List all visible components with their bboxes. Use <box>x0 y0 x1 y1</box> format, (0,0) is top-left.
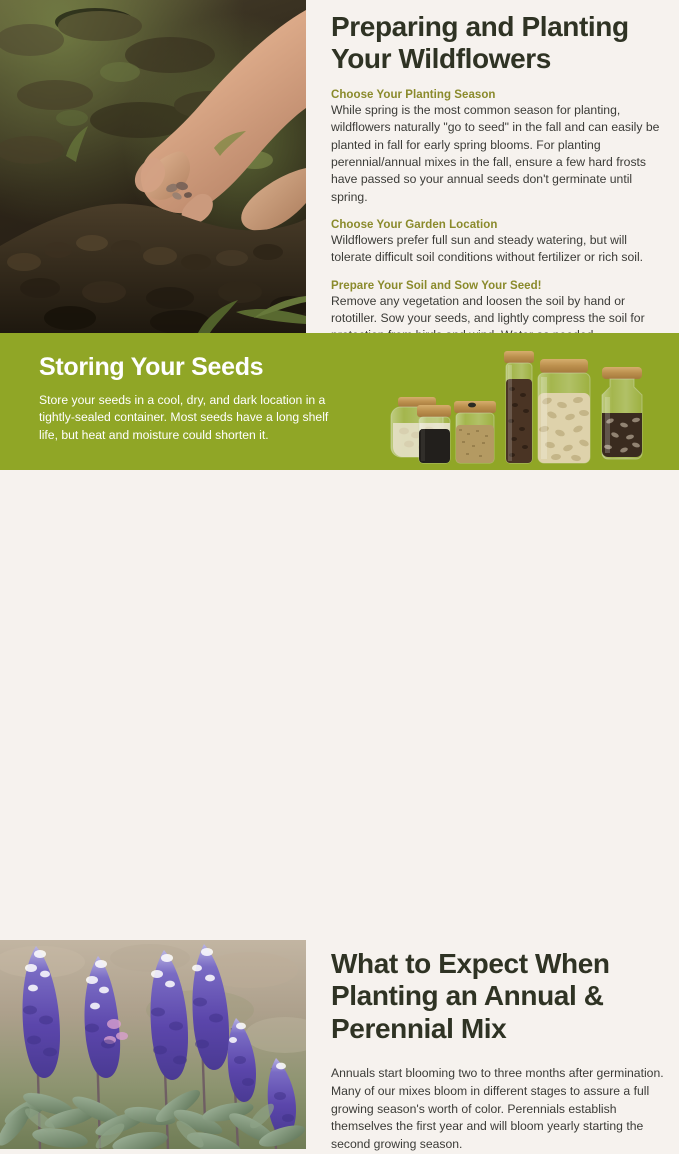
section-preparing-and-planting: Preparing and Planting Your Wildflowers … <box>0 0 679 333</box>
storing-seeds-title: Storing Your Seeds <box>39 353 349 382</box>
soil-photo-art <box>0 0 306 333</box>
seed-jars-photo <box>384 341 674 470</box>
lupine-wildflowers-photo <box>0 940 306 1149</box>
body-planting-season: While spring is the most common season f… <box>331 102 671 206</box>
jar-striped-seeds <box>602 367 642 459</box>
seed-jars-art <box>384 341 674 470</box>
hand-sowing-seeds-photo <box>0 0 306 333</box>
block-garden-location: Choose Your Garden Location Wildflowers … <box>331 219 671 267</box>
lupine-photo-art <box>0 940 306 1149</box>
page-title: Preparing and Planting Your Wildflowers <box>331 0 671 76</box>
body-garden-location: Wildflowers prefer full sun and steady w… <box>331 232 671 267</box>
subheading-planting-season: Choose Your Planting Season <box>331 89 671 101</box>
storing-seeds-body: Store your seeds in a cool, dry, and dar… <box>39 392 349 444</box>
infographic-page: Preparing and Planting Your Wildflowers … <box>0 0 679 679</box>
subheading-garden-location: Choose Your Garden Location <box>331 219 671 231</box>
jar-tan-grain <box>454 401 496 463</box>
jar-tall-dark-seeds <box>504 351 534 463</box>
block-planting-season: Choose Your Planting Season While spring… <box>331 89 671 206</box>
section3-text-column: What to Expect When Planting an Annual &… <box>331 940 671 1154</box>
jar-pale-seeds-large <box>538 359 590 463</box>
section1-text-column: Preparing and Planting Your Wildflowers … <box>331 0 671 333</box>
what-to-expect-body: Annuals start blooming two to three mont… <box>331 1065 671 1153</box>
section-storing-your-seeds: Storing Your Seeds Store your seeds in a… <box>0 333 679 470</box>
section-what-to-expect: What to Expect When Planting an Annual &… <box>0 470 679 679</box>
jar-black-seeds <box>417 405 451 463</box>
subheading-prepare-soil: Prepare Your Soil and Sow Your Seed! <box>331 280 671 292</box>
what-to-expect-title: What to Expect When Planting an Annual &… <box>331 940 671 1045</box>
section2-text-column: Storing Your Seeds Store your seeds in a… <box>39 353 349 444</box>
